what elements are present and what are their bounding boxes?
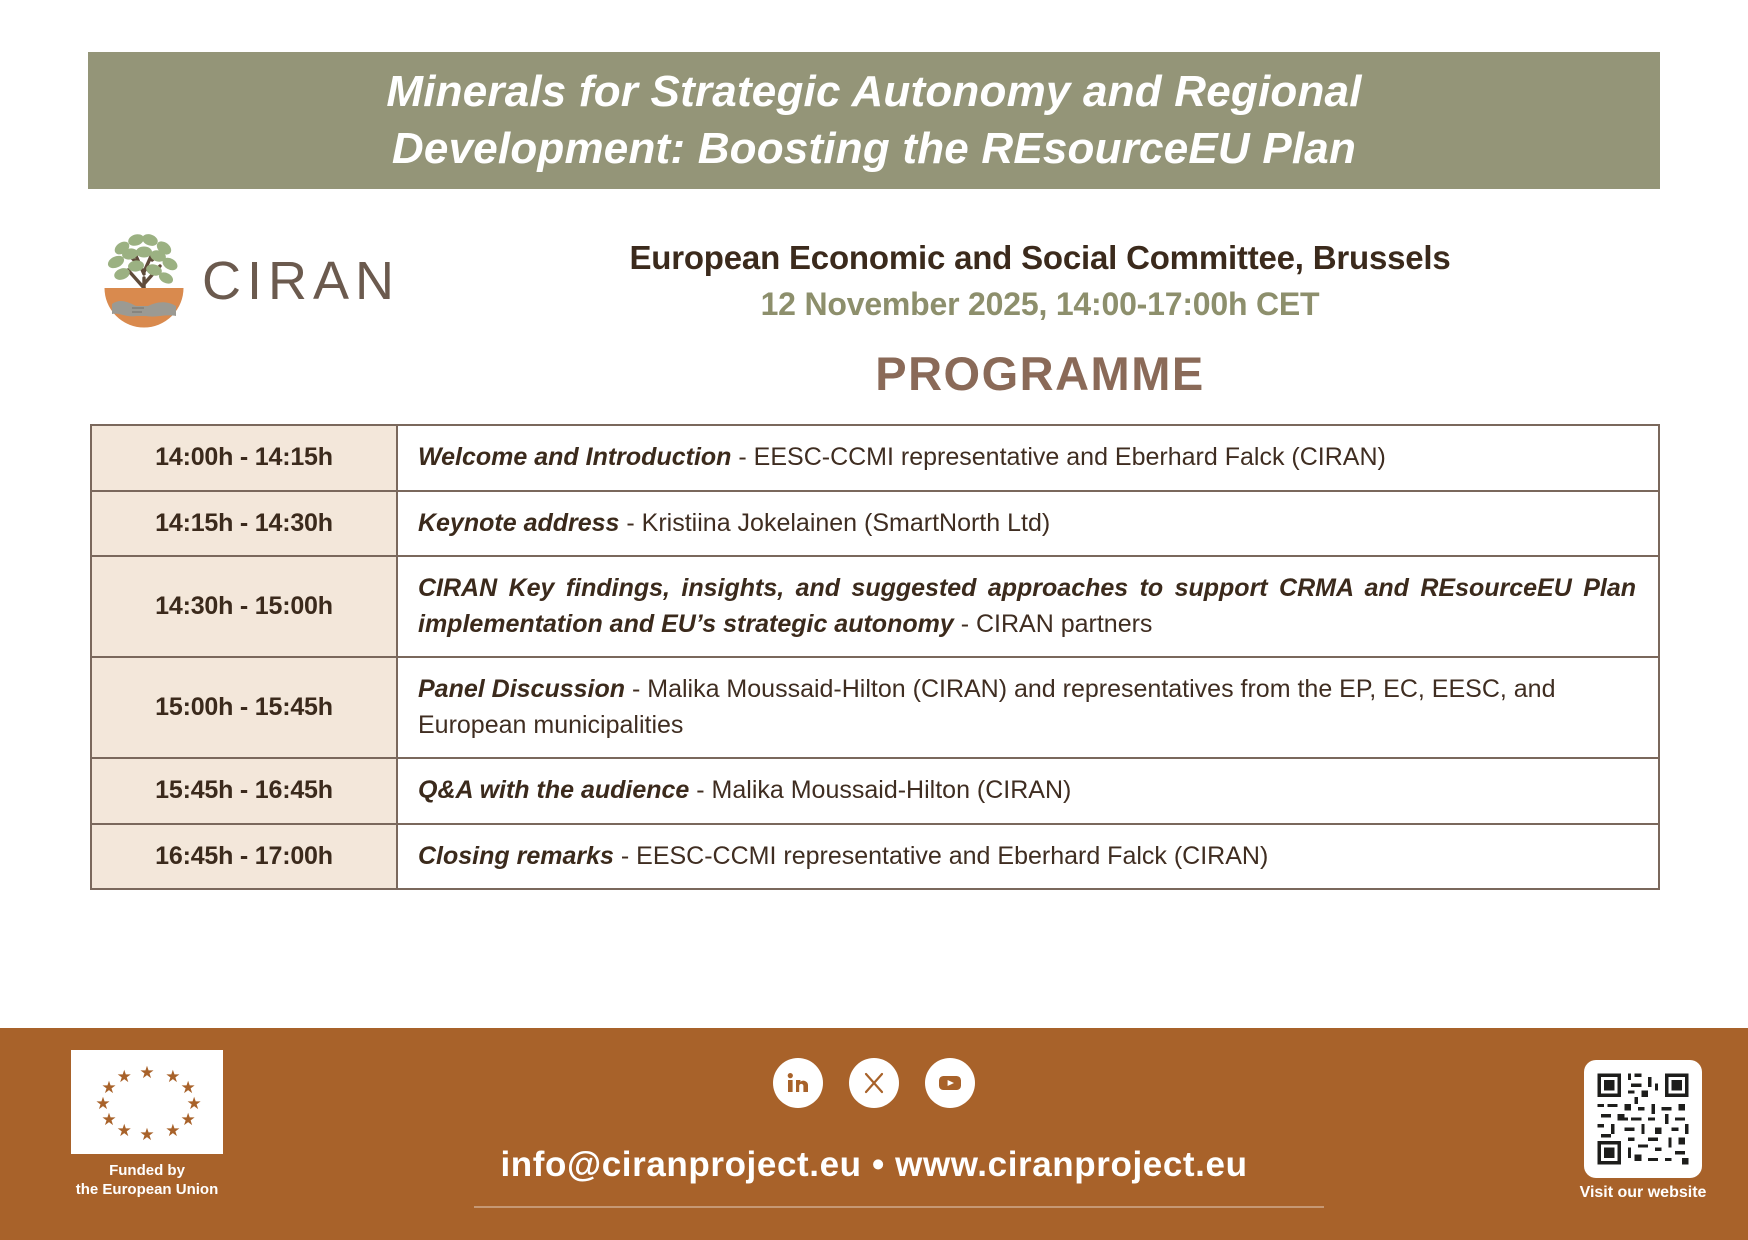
row-time: 15:00h - 15:45h (91, 657, 397, 758)
table-row: 15:00h - 15:45h Panel Discussion - Malik… (91, 657, 1659, 758)
row-description: CIRAN Key findings, insights, and sugges… (397, 556, 1659, 657)
row-title: Closing remarks (418, 842, 614, 870)
social-links (0, 1058, 1748, 1108)
row-time: 14:15h - 14:30h (91, 491, 397, 557)
row-description: Keynote address - Kristiina Jokelainen (… (397, 491, 1659, 557)
x-icon[interactable] (849, 1058, 899, 1108)
programme-table-body: 14:00h - 14:15h Welcome and Introduction… (91, 425, 1659, 889)
table-row: 14:15h - 14:30h Keynote address - Kristi… (91, 491, 1659, 557)
qr-caption: Visit our website (1573, 1184, 1713, 1202)
programme-table: 14:00h - 14:15h Welcome and Introduction… (90, 424, 1660, 890)
row-detail: - Kristiina Jokelainen (SmartNorth Ltd) (619, 509, 1050, 537)
qr-code-block[interactable]: Visit our website (1573, 1060, 1713, 1202)
table-row: 16:45h - 17:00h Closing remarks - EESC-C… (91, 824, 1659, 890)
table-row: 14:00h - 14:15h Welcome and Introduction… (91, 425, 1659, 491)
row-time: 16:45h - 17:00h (91, 824, 397, 890)
title-banner: Minerals for Strategic Autonomy and Regi… (88, 52, 1660, 189)
row-title: Welcome and Introduction (418, 443, 731, 471)
qr-code-icon[interactable] (1584, 1060, 1702, 1178)
programme-heading: PROGRAMME (420, 346, 1660, 401)
row-detail: - EESC-CCMI representative and Eberhard … (731, 443, 1385, 471)
ciran-wordmark: CIRAN (202, 254, 400, 310)
event-venue: European Economic and Social Committee, … (420, 238, 1660, 278)
event-details: European Economic and Social Committee, … (420, 238, 1660, 324)
linkedin-icon[interactable] (773, 1058, 823, 1108)
row-description: Q&A with the audience - Malika Moussaid-… (397, 758, 1659, 824)
row-title: Panel Discussion (418, 675, 625, 703)
youtube-icon[interactable] (925, 1058, 975, 1108)
table-row: 14:30h - 15:00h CIRAN Key findings, insi… (91, 556, 1659, 657)
contact-divider (474, 1206, 1324, 1208)
ciran-logo: CIRAN (92, 222, 402, 342)
row-title: Keynote address (418, 509, 619, 537)
row-detail: - Malika Moussaid-Hilton (CIRAN) (689, 776, 1071, 804)
row-description: Closing remarks - EESC-CCMI representati… (397, 824, 1659, 890)
row-description: Panel Discussion - Malika Moussaid-Hilto… (397, 657, 1659, 758)
contact-line[interactable]: info@ciranproject.eu • www.ciranproject.… (0, 1145, 1748, 1185)
ciran-tree-handshake-icon (92, 226, 196, 338)
table-row: 15:45h - 16:45h Q&A with the audience - … (91, 758, 1659, 824)
row-time: 15:45h - 16:45h (91, 758, 397, 824)
row-detail: - CIRAN partners (954, 610, 1153, 638)
row-detail: - EESC-CCMI representative and Eberhard … (614, 842, 1268, 870)
row-description: Welcome and Introduction - EESC-CCMI rep… (397, 425, 1659, 491)
row-time: 14:00h - 14:15h (91, 425, 397, 491)
page-title: Minerals for Strategic Autonomy and Regi… (209, 64, 1539, 177)
event-datetime: 12 November 2025, 14:00-17:00h CET (420, 284, 1660, 324)
row-time: 14:30h - 15:00h (91, 556, 397, 657)
row-title: Q&A with the audience (418, 776, 689, 804)
